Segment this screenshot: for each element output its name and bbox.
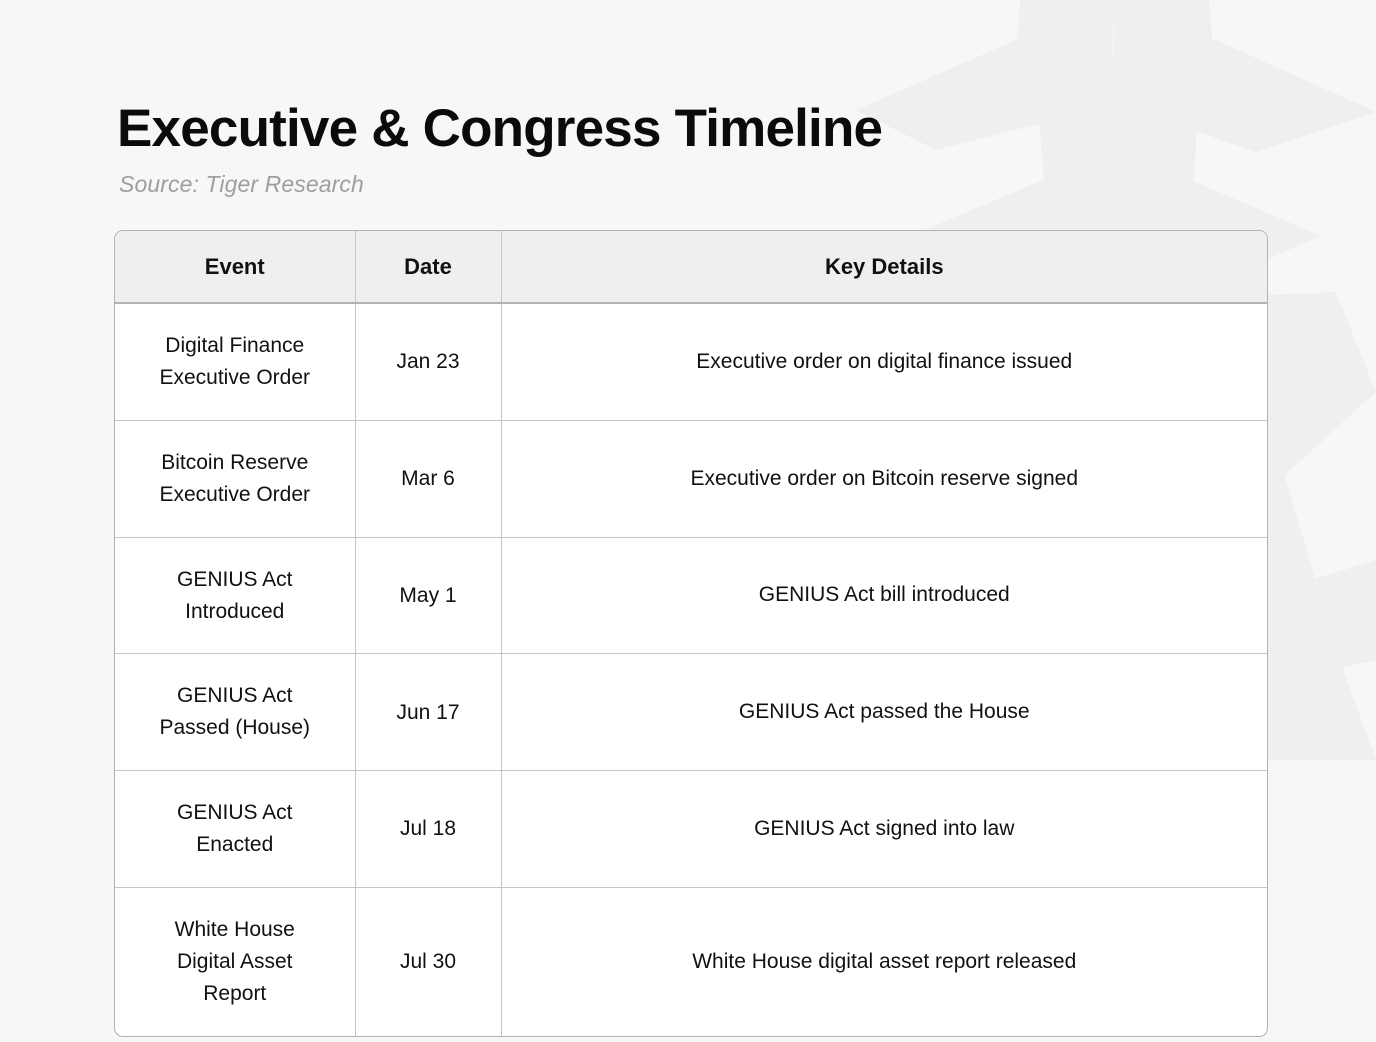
table-row: Bitcoin Reserve Executive Order Mar 6 Ex… <box>115 420 1267 537</box>
event-line: White House <box>175 918 295 941</box>
source-attribution: Source: Tiger Research <box>119 171 1277 198</box>
event-line: Enacted <box>196 833 273 856</box>
cell-event: Digital Finance Executive Order <box>115 303 355 420</box>
event-line: GENIUS Act <box>177 684 293 707</box>
event-line: Introduced <box>185 600 284 623</box>
event-line: Report <box>203 982 266 1005</box>
table-body: Digital Finance Executive Order Jan 23 E… <box>115 303 1267 1036</box>
cell-event: White House Digital Asset Report <box>115 888 355 1036</box>
cell-key-details: Executive order on Bitcoin reserve signe… <box>501 420 1267 537</box>
cell-key-details: GENIUS Act signed into law <box>501 771 1267 888</box>
table-header-row: Event Date Key Details <box>115 231 1267 303</box>
event-line: GENIUS Act <box>177 568 293 591</box>
cell-key-details: Executive order on digital finance issue… <box>501 303 1267 420</box>
cell-date: Jun 17 <box>355 654 501 771</box>
event-line: Digital Asset <box>177 950 293 973</box>
table-header: Event Date Key Details <box>115 231 1267 303</box>
cell-date: Mar 6 <box>355 420 501 537</box>
event-line: Executive Order <box>159 366 310 389</box>
timeline-table-container: Event Date Key Details Digital Finance E… <box>114 230 1268 1037</box>
cell-key-details: White House digital asset report release… <box>501 888 1267 1036</box>
cell-event: GENIUS Act Passed (House) <box>115 654 355 771</box>
event-line: GENIUS Act <box>177 801 293 824</box>
table-row: GENIUS Act Introduced May 1 GENIUS Act b… <box>115 537 1267 654</box>
cell-event: GENIUS Act Enacted <box>115 771 355 888</box>
event-line: Passed (House) <box>159 716 310 739</box>
cell-date: Jul 30 <box>355 888 501 1036</box>
cell-event: GENIUS Act Introduced <box>115 537 355 654</box>
cell-key-details: GENIUS Act bill introduced <box>501 537 1267 654</box>
table-row: White House Digital Asset Report Jul 30 … <box>115 888 1267 1036</box>
cell-date: May 1 <box>355 537 501 654</box>
timeline-table: Event Date Key Details Digital Finance E… <box>115 231 1267 1036</box>
column-header-event: Event <box>115 231 355 303</box>
table-row: GENIUS Act Enacted Jul 18 GENIUS Act sig… <box>115 771 1267 888</box>
cell-event: Bitcoin Reserve Executive Order <box>115 420 355 537</box>
header-block: Executive & Congress Timeline Source: Ti… <box>117 100 1277 198</box>
event-line: Executive Order <box>159 483 310 506</box>
column-header-key-details: Key Details <box>501 231 1267 303</box>
event-line: Digital Finance <box>165 334 304 357</box>
event-line: Bitcoin Reserve <box>161 451 308 474</box>
table-row: GENIUS Act Passed (House) Jun 17 GENIUS … <box>115 654 1267 771</box>
cell-date: Jan 23 <box>355 303 501 420</box>
column-header-date: Date <box>355 231 501 303</box>
table-row: Digital Finance Executive Order Jan 23 E… <box>115 303 1267 420</box>
cell-date: Jul 18 <box>355 771 501 888</box>
cell-key-details: GENIUS Act passed the House <box>501 654 1267 771</box>
page-title: Executive & Congress Timeline <box>117 100 1277 157</box>
